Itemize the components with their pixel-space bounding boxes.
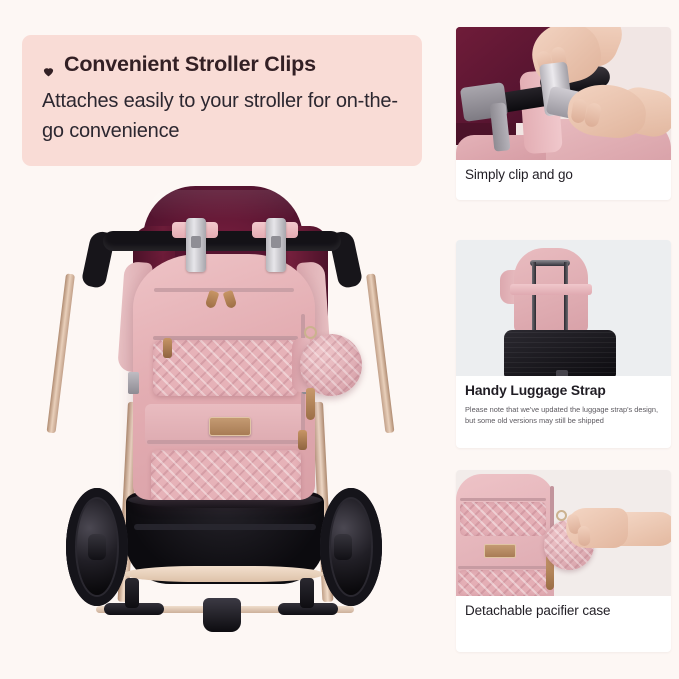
panel-1-caption: Simply clip and go	[465, 167, 662, 183]
stroller-footrest-bar	[124, 566, 324, 582]
panel-3-caption-wrap: Detachable pacifier case	[456, 596, 671, 619]
callout-body-text: Attaches easily to your stroller for on-…	[42, 87, 400, 146]
feature-callout: Convenient Stroller Clips Attaches easil…	[22, 35, 422, 166]
wheel-fork-right	[300, 578, 314, 608]
callout-title-row: Convenient Stroller Clips	[42, 52, 400, 77]
canopy-highlight	[150, 190, 295, 220]
stroller-leg-front-left	[47, 273, 75, 433]
upper-quilted-pocket	[153, 340, 298, 396]
p3-finger-2	[577, 526, 590, 547]
callout-title-text: Convenient Stroller Clips	[64, 52, 316, 77]
panel-1-photo	[456, 27, 671, 160]
stroller-center-hitch	[203, 598, 241, 632]
panel-3-photo	[456, 470, 671, 596]
stroller-leg-front-right	[366, 273, 394, 433]
lower-quilted-pocket	[151, 450, 301, 500]
clip-notch-left	[191, 236, 201, 248]
p2-luggage-strap	[510, 284, 592, 295]
side-grey-tab-left	[128, 372, 139, 394]
right-column: Simply clip and go Handy Luggage Strap P…	[448, 0, 679, 679]
p3-upper-quilted-pocket	[460, 502, 546, 536]
panel-2-caption-wrap: Handy Luggage Strap Please note that we'…	[456, 376, 671, 426]
pacifier-case	[300, 334, 362, 396]
mid-panel-zipper	[147, 440, 303, 444]
pacifier-case-ring-icon	[304, 326, 317, 339]
diaper-backpack	[133, 254, 315, 500]
pacifier-case-leather-tassel	[306, 388, 315, 420]
panel-1-caption-wrap: Simply clip and go	[456, 160, 671, 183]
wheel-hub-right	[334, 534, 352, 560]
panel-2-disclaimer: Please note that we've updated the lugga…	[465, 405, 662, 426]
panel-luggage-strap: Handy Luggage Strap Please note that we'…	[456, 240, 671, 448]
clip-notch-right	[271, 236, 281, 248]
p3-lower-zipper	[458, 566, 548, 569]
zipper-pull-right	[223, 290, 238, 309]
p3-lower-quilted-pocket	[458, 570, 548, 596]
p3-upper-zipper	[460, 498, 546, 501]
panel-2-photo	[456, 240, 671, 376]
panel-simply-clip: Simply clip and go	[456, 27, 671, 200]
side-zipper-pull	[298, 430, 307, 450]
panel-2-caption: Handy Luggage Strap	[465, 383, 662, 400]
heart-icon	[42, 59, 55, 72]
left-column: Convenient Stroller Clips Attaches easil…	[0, 0, 448, 679]
upper-pocket-zipper-pull	[163, 338, 172, 358]
infographic-stage: Convenient Stroller Clips Attaches easil…	[0, 0, 679, 679]
p2-suitcase-handle-left-post	[532, 262, 536, 332]
wheel-fork-left	[125, 578, 139, 608]
panel-pacifier-case: Detachable pacifier case	[456, 470, 671, 652]
stroller-handlebar	[103, 231, 341, 251]
leather-brand-label	[209, 417, 251, 436]
p2-suitcase-zipper	[556, 370, 568, 376]
p2-suitcase-handle-right-post	[564, 262, 568, 332]
wheel-hub-left	[88, 534, 106, 560]
panel-3-caption: Detachable pacifier case	[465, 603, 662, 619]
zipper-pull-left	[205, 290, 220, 309]
hero-product-photo	[0, 166, 448, 679]
basket-seam	[134, 524, 316, 530]
p3-leather-brand-label	[484, 544, 516, 558]
p3-pacifier-ring-icon	[556, 510, 567, 521]
